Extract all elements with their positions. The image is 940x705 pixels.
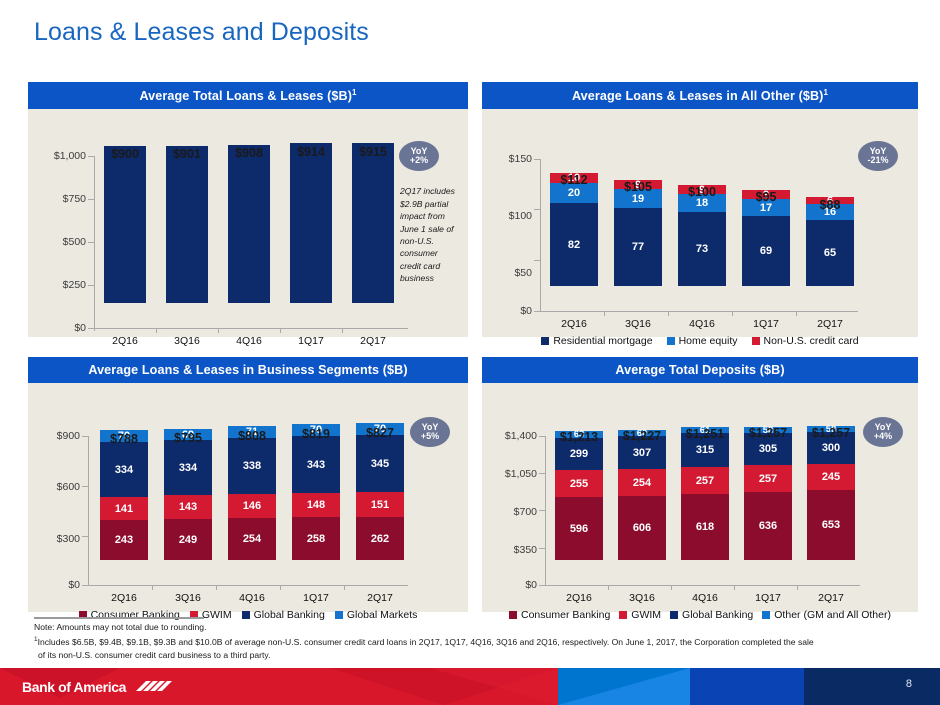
bar-1Q17: 69 17 9: [742, 190, 790, 286]
bar-segment-gwim: 141: [100, 497, 148, 520]
page-title: Loans & Leases and Deposits: [34, 18, 369, 47]
ytick-mark: [534, 209, 541, 210]
yoy-badge: YoY +5%: [410, 417, 450, 447]
legend-swatch-icon: [541, 337, 549, 345]
ytick-mark: [82, 536, 89, 537]
ytick-mark: [88, 156, 95, 157]
xtick-mark: [280, 328, 281, 333]
ytick-label: $300: [28, 533, 80, 545]
yoy-badge-value: +4%: [874, 432, 892, 441]
footnote-1: 1Includes $6.5B, $9.4B, $9.1B, $9.3B and…: [34, 636, 814, 648]
footnote-divider: [34, 617, 204, 619]
xtick-mark: [344, 585, 345, 590]
ytick-mark: [539, 436, 546, 437]
bar-total-label: $827: [356, 426, 404, 440]
legend-label: Consumer Banking: [91, 609, 180, 621]
legend-item-global-markets: Global Markets: [335, 609, 418, 621]
xtick-label: 1Q17: [742, 318, 790, 330]
panel-total-loans-body: $1,000 $750 $500 $250 $0 $90: [28, 109, 468, 339]
bar-segment-consumer-banking: 243: [100, 520, 148, 560]
legend-swatch-icon: [509, 611, 517, 619]
bar-segment-gwim: 151: [356, 492, 404, 517]
xtick-label: 2Q16: [550, 318, 598, 330]
legend-item-global-banking: Global Banking: [670, 609, 753, 621]
bar-total-label: $1,227: [614, 429, 670, 443]
bar-2Q16: 243 141 334 70: [100, 430, 148, 560]
bar-total-label: $914: [290, 145, 332, 159]
bar-segment-gwim: 245: [807, 464, 855, 490]
yoy-badge: YoY +2%: [399, 141, 439, 171]
xtick-mark: [156, 328, 157, 333]
y-axis-line: [88, 436, 89, 585]
legend-label: Residential mortgage: [553, 335, 652, 347]
xtick-mark: [608, 585, 609, 590]
bar-1Q17: 258 148 343 70: [292, 424, 340, 560]
xtick-label: 3Q16: [166, 335, 208, 347]
panel-all-other: Average Loans & Leases in All Other ($B)…: [482, 82, 918, 337]
bar-total-label: $795: [164, 431, 212, 445]
bar-1Q17: 636 257 305 58: [744, 427, 792, 560]
panel-all-other-title: Average Loans & Leases in All Other ($B): [572, 89, 824, 103]
legend-item-residential-mortgage: Residential mortgage: [541, 335, 652, 347]
legend-item-global-banking: Global Banking: [242, 609, 325, 621]
legend-item-non-us-credit-card: Non-U.S. credit card: [752, 335, 859, 347]
footer-blue-band-3: [804, 668, 940, 705]
legend-item-home-equity: Home equity: [667, 335, 738, 347]
panel-business-segments: Average Loans & Leases in Business Segme…: [28, 357, 468, 612]
bar-total-label: $1,213: [551, 430, 607, 444]
xtick-label: 3Q16: [164, 592, 212, 604]
xtick-mark: [342, 328, 343, 333]
panel-all-other-body: $150 $100 $50 $0 82 20 10 77 19 9 73 18 …: [482, 109, 918, 339]
ytick-mark: [539, 510, 546, 511]
ytick-mark: [534, 159, 541, 160]
legend-item-other: Other (GM and All Other): [762, 609, 891, 621]
bar-total-label: $100: [678, 185, 726, 199]
xtick-label: 2Q16: [100, 592, 148, 604]
legend-business-segments: Consumer Banking GWIM Global Banking Glo…: [28, 609, 468, 621]
bar-segment-consumer-banking: 618: [681, 494, 729, 560]
ytick-mark: [82, 436, 89, 437]
xtick-mark: [152, 585, 153, 590]
legend-label: Global Banking: [254, 609, 325, 621]
xtick-mark: [797, 585, 798, 590]
bar-segment-global-banking: 334: [100, 442, 148, 497]
xtick-label: 2Q16: [104, 335, 146, 347]
footer-angle-icon: [558, 668, 690, 705]
legend-label: Global Markets: [347, 609, 418, 621]
bar-segment-residential-mortgage: 65: [806, 220, 854, 286]
legend-label: Home equity: [679, 335, 738, 347]
panel-total-loans-header: Average Total Loans & Leases ($B)1: [28, 82, 468, 109]
legend-swatch-icon: [762, 611, 770, 619]
bar-2Q17: [352, 143, 394, 303]
bar-segment-consumer-banking: 258: [292, 517, 340, 560]
xtick-label: 4Q16: [228, 592, 276, 604]
legend-item-consumer-banking: Consumer Banking: [79, 609, 180, 621]
ytick-label: $1,400: [482, 430, 537, 442]
ytick-label: $1,000: [28, 150, 86, 162]
xtick-mark: [280, 585, 281, 590]
legend-total-deposits: Consumer Banking GWIM Global Banking Oth…: [482, 609, 918, 621]
panel-total-deposits-header: Average Total Deposits ($B): [482, 357, 918, 383]
legend-label: Global Banking: [682, 609, 753, 621]
bar-segment-global-banking: 334: [164, 440, 212, 495]
legend-all-other: Residential mortgage Home equity Non-U.S…: [482, 335, 918, 347]
ytick-label: $0: [28, 322, 86, 334]
bar-segment-global-banking: 345: [356, 435, 404, 492]
legend-item-consumer-banking: Consumer Banking: [509, 609, 610, 621]
ytick-label: $0: [482, 305, 532, 317]
bar-3Q16: 77 19 9: [614, 180, 662, 286]
xtick-mark: [668, 311, 669, 316]
bar-total-label: $915: [352, 145, 394, 159]
xtick-label: 2Q17: [806, 318, 854, 330]
legend-swatch-icon: [670, 611, 678, 619]
bar-segment-consumer-banking: 249: [164, 519, 212, 560]
bar-segment-global-banking: 338: [228, 438, 276, 494]
ytick-mark: [82, 486, 89, 487]
brand-name: Bank of America: [22, 679, 126, 695]
bar-4Q16: [228, 145, 270, 303]
xtick-label: 2Q17: [356, 592, 404, 604]
panel-total-deposits: Average Total Deposits ($B) $1,400 $1,05…: [482, 357, 918, 612]
bar-total-label: $819: [292, 427, 340, 441]
ytick-label: $0: [28, 579, 80, 591]
bar-segment-consumer-banking: 596: [555, 497, 603, 560]
ytick-label: $750: [28, 193, 86, 205]
yoy-badge-value: -21%: [867, 156, 888, 165]
yoy-badge: YoY +4%: [863, 417, 903, 447]
bar-4Q16: 618 257 315 61: [681, 427, 729, 560]
footnote-note: Note: Amounts may not total due to round…: [34, 622, 206, 634]
bar-total-label: $901: [166, 147, 208, 161]
xtick-label: 2Q17: [352, 335, 394, 347]
panel-total-loans-title: Average Total Loans & Leases ($B): [139, 89, 352, 103]
ytick-mark: [88, 285, 95, 286]
xtick-mark: [734, 585, 735, 590]
bar-segment-global-banking: 343: [292, 436, 340, 493]
legend-label: GWIM: [631, 609, 661, 621]
bar-segment-consumer-banking: 254: [228, 518, 276, 560]
bar-segment-residential-mortgage: 77: [614, 208, 662, 286]
bar-segment: [228, 145, 270, 303]
ytick-mark: [88, 199, 95, 200]
x-axis-line: [94, 328, 408, 329]
yoy-badge-value: +5%: [421, 432, 439, 441]
bar-total-label: $1,257: [740, 426, 796, 440]
ytick-mark: [539, 473, 546, 474]
bar-segment-gwim: 148: [292, 493, 340, 517]
legend-label: Other (GM and All Other): [774, 609, 891, 621]
panel-all-other-header: Average Loans & Leases in All Other ($B)…: [482, 82, 918, 109]
x-axis-line: [540, 311, 858, 312]
xtick-label: 1Q17: [744, 592, 792, 604]
panel-business-segments-title: Average Loans & Leases in Business Segme…: [88, 363, 407, 377]
legend-swatch-icon: [242, 611, 250, 619]
bar-2Q16: [104, 146, 146, 303]
bar-3Q16: [166, 146, 208, 303]
xtick-mark: [732, 311, 733, 316]
bar-segment-consumer-banking: 636: [744, 492, 792, 560]
legend-swatch-icon: [335, 611, 343, 619]
bar-segment-consumer-banking: 606: [618, 496, 666, 560]
slide-footer: Bank of America 8: [0, 668, 940, 705]
bar-total-label: $900: [104, 147, 146, 161]
bar-segment-gwim: 257: [744, 465, 792, 492]
legend-label: Consumer Banking: [521, 609, 610, 621]
xtick-mark: [671, 585, 672, 590]
bar-segment: [290, 143, 332, 303]
xtick-mark: [216, 585, 217, 590]
ytick-label: $0: [482, 579, 537, 591]
panel-business-segments-body: $900 $600 $300 $0 243 141 334 70 249 143…: [28, 383, 468, 613]
legend-item-gwim: GWIM: [190, 609, 232, 621]
ytick-mark: [539, 548, 546, 549]
ytick-label: $250: [28, 279, 86, 291]
xtick-label: 1Q17: [290, 335, 332, 347]
bar-segment-gwim: 146: [228, 494, 276, 518]
bar-total-label: $112: [550, 173, 598, 187]
bar-total-label: $95: [742, 190, 790, 204]
ytick-label: $700: [482, 506, 537, 518]
bar-segment-gwim: 257: [681, 467, 729, 494]
ytick-label: $100: [482, 210, 532, 222]
bar-total-label: $88: [806, 198, 854, 212]
bar-segment-gwim: 143: [164, 495, 212, 519]
bar-total-label: $908: [228, 146, 270, 160]
ytick-mark: [534, 260, 541, 261]
xtick-mark: [218, 328, 219, 333]
panel-business-segments-header: Average Loans & Leases in Business Segme…: [28, 357, 468, 383]
bar-total-label: $1,257: [803, 426, 859, 440]
bar-2Q16: 82 20 10: [550, 173, 598, 286]
footnote-marker: 1: [823, 88, 828, 97]
xtick-mark: [604, 311, 605, 316]
ytick-label: $900: [28, 430, 80, 442]
yoy-badge: YoY -21%: [858, 141, 898, 171]
legend-swatch-icon: [752, 337, 760, 345]
xtick-label: 4Q16: [678, 318, 726, 330]
legend-label: GWIM: [202, 609, 232, 621]
ytick-label: $500: [28, 236, 86, 248]
x-axis-line: [545, 585, 860, 586]
bar-2Q17: 262 151 345 70: [356, 423, 404, 560]
bar-total-label: $788: [100, 432, 148, 446]
bar-2Q17: 653 245 300 58: [807, 426, 855, 560]
bar-4Q16: 254 146 338 71: [228, 426, 276, 560]
ytick-label: $350: [482, 544, 537, 556]
bar-2Q16: 596 255 299 63: [555, 431, 603, 560]
ytick-label: $1,050: [482, 468, 537, 480]
bar-total-label: $105: [614, 180, 662, 194]
bar-segment-gwim: 255: [555, 470, 603, 497]
bar-segment-residential-mortgage: 69: [742, 216, 790, 286]
y-axis-line: [94, 156, 95, 331]
xtick-label: 1Q17: [292, 592, 340, 604]
legend-label: Non-U.S. credit card: [764, 335, 859, 347]
bar-total-label: $808: [228, 429, 276, 443]
panel-total-deposits-body: $1,400 $1,050 $700 $350 $0 596 255 299 6…: [482, 383, 918, 613]
callout-note: 2Q17 includes $2.9B partial impact from …: [400, 185, 458, 285]
panel-total-loans: Average Total Loans & Leases ($B)1 $1,00…: [28, 82, 468, 337]
xtick-mark: [796, 311, 797, 316]
panel-total-deposits-title: Average Total Deposits ($B): [615, 363, 784, 377]
yoy-badge-value: +2%: [410, 156, 428, 165]
xtick-label: 2Q17: [807, 592, 855, 604]
footer-blue-band-2: [690, 668, 804, 705]
bar-1Q17: [290, 143, 332, 303]
bar-segment-consumer-banking: 653: [807, 490, 855, 560]
bar-total-label: $1,251: [677, 427, 733, 441]
bar-segment-residential-mortgage: 73: [678, 212, 726, 286]
legend-swatch-icon: [667, 337, 675, 345]
bar-4Q16: 73 18 9: [678, 185, 726, 286]
bar-segment: [104, 146, 146, 303]
xtick-label: 2Q16: [555, 592, 603, 604]
ytick-label: $600: [28, 481, 80, 493]
footnote-1-text: Includes $6.5B, $9.4B, $9.1B, $9.3B and …: [38, 637, 814, 647]
xtick-label: 3Q16: [614, 318, 662, 330]
y-axis-line: [540, 159, 541, 311]
bar-segment-consumer-banking: 262: [356, 517, 404, 560]
bank-of-america-logo: Bank of America: [22, 677, 174, 697]
bar-segment: [166, 146, 208, 303]
x-axis-line: [88, 585, 408, 586]
legend-item-gwim: GWIM: [619, 609, 661, 621]
footer-blue-band-1: [558, 668, 690, 705]
footnote-1-cont: of its non-U.S. consumer credit card bus…: [38, 650, 270, 662]
ytick-mark: [88, 242, 95, 243]
ytick-label: $150: [482, 153, 532, 165]
bar-segment: [352, 143, 394, 303]
bar-3Q16: 249 143 334 69: [164, 429, 212, 560]
legend-swatch-icon: [619, 611, 627, 619]
xtick-label: 3Q16: [618, 592, 666, 604]
bar-segment-residential-mortgage: 82: [550, 203, 598, 286]
xtick-label: 4Q16: [228, 335, 270, 347]
boa-flagscape-icon: [132, 677, 174, 697]
page-number: 8: [906, 678, 912, 690]
bar-segment-gwim: 254: [618, 469, 666, 496]
bar-3Q16: 606 254 307 60: [618, 430, 666, 560]
footnote-marker: 1: [352, 88, 357, 97]
ytick-label: $50: [482, 267, 532, 279]
xtick-label: 4Q16: [681, 592, 729, 604]
